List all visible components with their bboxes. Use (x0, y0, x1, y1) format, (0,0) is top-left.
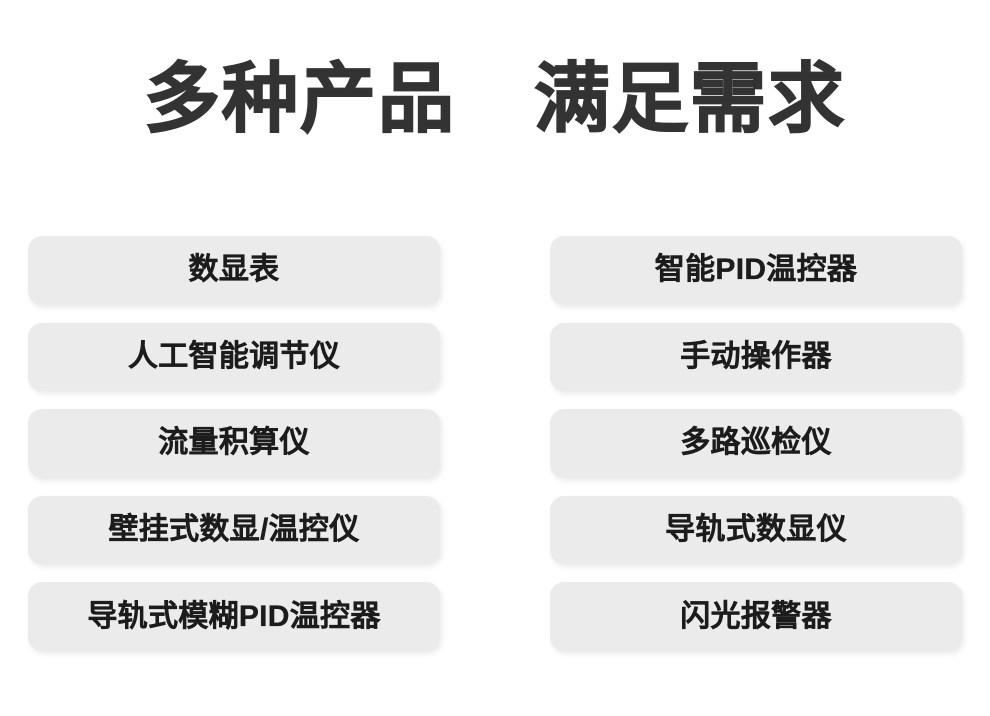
product-category-label: 多路巡检仪 (680, 428, 832, 458)
product-category-item[interactable]: 壁挂式数显/温控仪 (28, 496, 440, 565)
page-title: 多种产品 满足需求 (0, 44, 990, 156)
product-category-item[interactable]: 导轨式模糊PID温控器 (28, 582, 440, 651)
product-category-item[interactable]: 手动操作器 (550, 323, 962, 392)
product-column-left: 数显表 人工智能调节仪 流量积算仪 壁挂式数显/温控仪 导轨式模糊PID温控器 (28, 236, 440, 651)
product-category-label: 流量积算仪 (158, 428, 310, 458)
product-category-label: 闪光报警器 (680, 602, 832, 632)
product-category-label: 手动操作器 (680, 342, 832, 372)
product-category-label: 数显表 (189, 255, 280, 285)
product-category-label: 人工智能调节仪 (128, 342, 340, 372)
product-category-banner: 多种产品 满足需求 数显表 人工智能调节仪 流量积算仪 壁挂式数显/温控仪 导轨… (0, 0, 990, 716)
product-category-label: 壁挂式数显/温控仪 (108, 515, 359, 545)
product-category-label: 导轨式数显仪 (665, 515, 847, 545)
product-category-label: 导轨式模糊PID温控器 (87, 602, 380, 632)
product-category-item[interactable]: 智能PID温控器 (550, 236, 962, 305)
product-category-label: 智能PID温控器 (655, 255, 857, 285)
product-category-item[interactable]: 导轨式数显仪 (550, 496, 962, 565)
product-category-grid: 数显表 人工智能调节仪 流量积算仪 壁挂式数显/温控仪 导轨式模糊PID温控器 … (28, 236, 962, 651)
product-category-item[interactable]: 人工智能调节仪 (28, 323, 440, 392)
product-category-item[interactable]: 闪光报警器 (550, 582, 962, 651)
product-category-item[interactable]: 多路巡检仪 (550, 409, 962, 478)
product-category-item[interactable]: 流量积算仪 (28, 409, 440, 478)
product-column-right: 智能PID温控器 手动操作器 多路巡检仪 导轨式数显仪 闪光报警器 (550, 236, 962, 651)
product-category-item[interactable]: 数显表 (28, 236, 440, 305)
